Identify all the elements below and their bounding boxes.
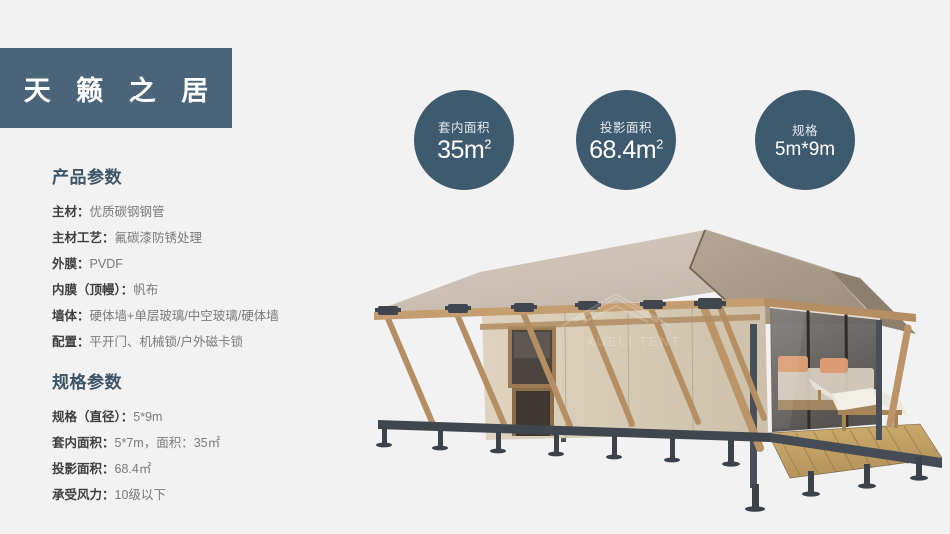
- badge-unit: m: [636, 136, 656, 164]
- spec-row: 主材：优质碳钢钢管: [52, 199, 279, 225]
- spec-value: 5*9m: [133, 410, 162, 424]
- badge-projected-area: 投影面积 68.4m2: [576, 90, 676, 190]
- spec-value: 平开门、机械锁/户外磁卡锁: [90, 335, 243, 349]
- page-title: 天 籁 之 居: [15, 69, 218, 108]
- safari-tent-illustration: [360, 228, 950, 534]
- spec-value: 10级以下: [115, 488, 166, 502]
- spec-label: 主材：: [52, 205, 90, 219]
- spec-row: 配置：平开门、机械锁/户外磁卡锁: [52, 329, 279, 355]
- spec-row: 套内面积：5*7m，面积：35㎡: [52, 430, 220, 456]
- badge-interior-area: 套内面积 35m2: [414, 90, 514, 190]
- spec-row: 承受风力：10级以下: [52, 482, 220, 508]
- size-parameters-section: 规格参数 规格（直径）：5*9m 套内面积：5*7m，面积：35㎡ 投影面积：6…: [52, 368, 220, 508]
- title-block: 天 籁 之 居: [0, 48, 232, 128]
- spec-label: 外膜：: [52, 257, 90, 271]
- spec-value: 5*7m，面积：35㎡: [115, 436, 221, 450]
- badge-unit-exponent: 2: [656, 137, 663, 152]
- badge-number: 5m*9m: [775, 139, 835, 160]
- spec-value: 硬体墙+单层玻璃/中空玻璃/硬体墙: [90, 309, 279, 323]
- badge-value: 5m*9m: [775, 140, 835, 160]
- product-spec-slide: 天 籁 之 居 产品参数 主材：优质碳钢钢管 主材工艺：氟碳漆防锈处理 外膜：P…: [0, 0, 950, 534]
- spec-label: 主材工艺：: [52, 231, 115, 245]
- spec-label: 套内面积：: [52, 436, 115, 450]
- badge-label: 投影面积: [600, 117, 652, 136]
- spec-value: 氟碳漆防锈处理: [115, 231, 203, 245]
- spec-row: 内膜（顶幔）：帆布: [52, 277, 279, 303]
- spec-label: 墙体：: [52, 309, 90, 323]
- badge-unit-exponent: 2: [484, 137, 491, 152]
- spec-value: 优质碳钢钢管: [90, 205, 165, 219]
- spec-row: 主材工艺：氟碳漆防锈处理: [52, 225, 279, 251]
- spec-row: 外膜：PVDF: [52, 251, 279, 277]
- spec-value: 68.4㎡: [115, 462, 152, 476]
- spec-label: 规格（直径）：: [52, 410, 133, 424]
- spec-label: 投影面积：: [52, 462, 115, 476]
- size-parameters-heading: 规格参数: [52, 368, 220, 393]
- spec-label: 内膜（顶幔）：: [52, 283, 133, 297]
- spec-row: 投影面积：68.4㎡: [52, 456, 220, 482]
- badge-value: 68.4m2: [589, 137, 663, 163]
- badge-number: 35: [437, 136, 464, 164]
- badge-number: 68.4: [589, 136, 636, 164]
- badge-unit: m: [464, 136, 484, 164]
- spec-value: 帆布: [133, 283, 158, 297]
- spec-row: 墙体：硬体墙+单层玻璃/中空玻璃/硬体墙: [52, 303, 279, 329]
- badge-dimensions: 规格 5m*9m: [755, 90, 855, 190]
- badge-value: 35m2: [437, 137, 491, 163]
- product-parameters-heading: 产品参数: [52, 163, 279, 188]
- spec-value: PVDF: [90, 257, 123, 271]
- product-parameters-section: 产品参数 主材：优质碳钢钢管 主材工艺：氟碳漆防锈处理 外膜：PVDF 内膜（顶…: [52, 163, 279, 355]
- spec-row: 规格（直径）：5*9m: [52, 404, 220, 430]
- spec-label: 承受风力：: [52, 488, 115, 502]
- badge-label: 规格: [792, 120, 818, 139]
- spec-label: 配置：: [52, 335, 90, 349]
- badge-label: 套内面积: [438, 117, 490, 136]
